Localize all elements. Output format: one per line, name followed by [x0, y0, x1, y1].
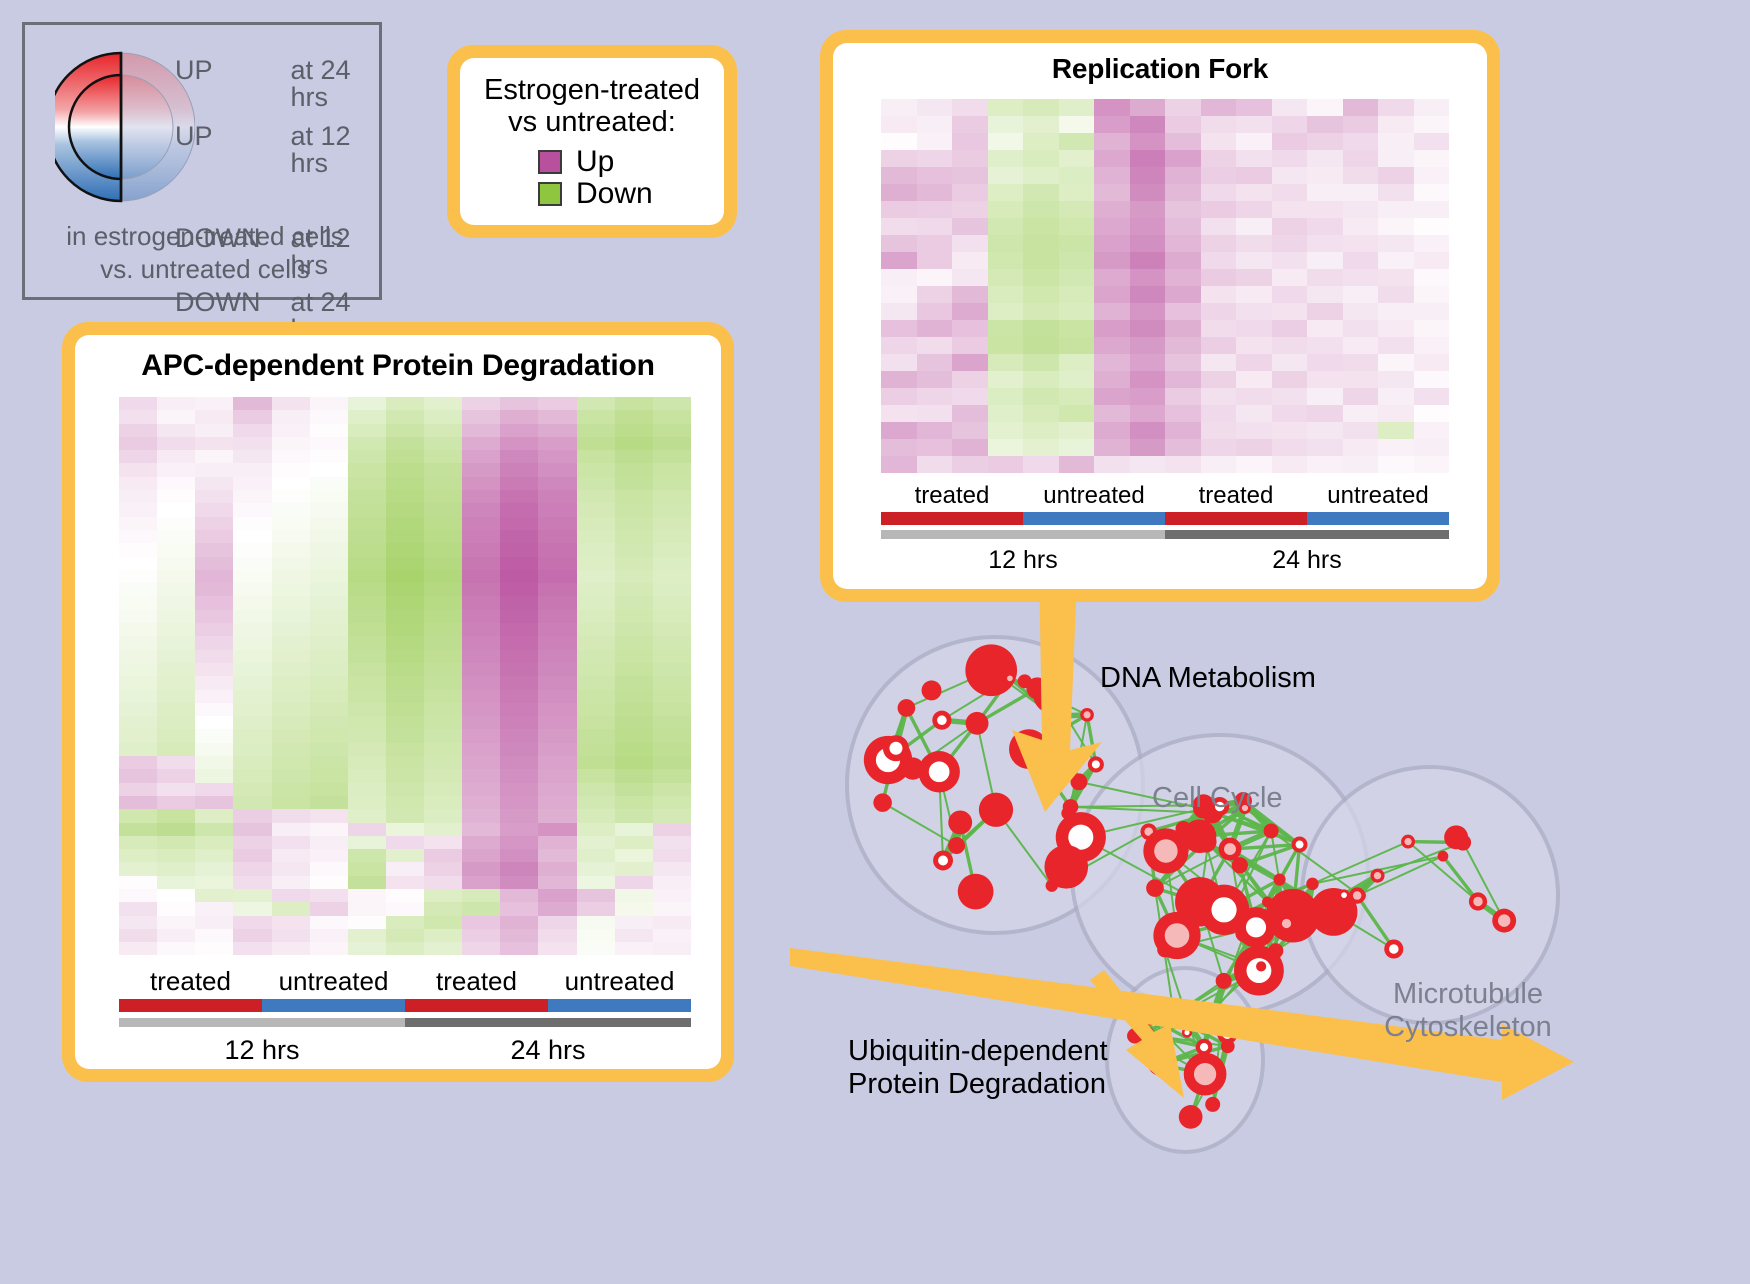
group-label: untreated [1023, 483, 1165, 509]
key-caption: in estrogen-treated cells vs. untreated … [25, 220, 385, 287]
treatment-bar-replication-fork [881, 512, 1449, 525]
treatment-bar-apc [119, 999, 691, 1012]
key-labels: UP at 24 hrs UP at 12 hrs DOWN at 12 hrs… [175, 57, 395, 343]
legend-label-down: Down [576, 179, 653, 209]
key-caption-line1: in estrogen-treated cells [25, 220, 385, 253]
key-time-label: at 24 hrs [290, 57, 395, 111]
expression-key-box: UP at 24 hrs UP at 12 hrs DOWN at 12 hrs… [22, 22, 382, 300]
group-label: treated [405, 967, 548, 996]
group-label: treated [1165, 483, 1307, 509]
cluster-label-microtubule-cytoskeleton: Microtubule Cytoskeleton [1383, 978, 1553, 1045]
cluster-label-ubiquitin-degradation: Ubiquitin-dependent Protein Degradation [848, 1035, 1108, 1102]
legend-title-line2: vs untreated: [460, 106, 724, 138]
heatmap-apc [119, 397, 691, 955]
group-label: treated [119, 967, 262, 996]
time-label: 12 hrs [881, 545, 1165, 575]
key-state-label: DOWN [175, 289, 290, 316]
microtubule-line1: Microtubule [1383, 978, 1553, 1011]
time-label: 24 hrs [1165, 545, 1449, 575]
panel-title-apc: APC-dependent Protein Degradation [75, 335, 721, 383]
time-bar-apc [119, 1018, 691, 1027]
ubiquitin-line1: Ubiquitin-dependent [848, 1035, 1108, 1068]
legend-title: Estrogen-treated vs untreated: [460, 74, 724, 139]
heatmap-replication-fork [881, 99, 1449, 473]
replication-fork-panel: Replication Fork treated untreated treat… [820, 30, 1500, 602]
time-bar-replication-fork [881, 530, 1449, 539]
time-labels-apc: 12 hrs 24 hrs [119, 1034, 691, 1066]
panel-title-replication-fork: Replication Fork [833, 43, 1487, 85]
cluster-label-cell-cycle: Cell Cycle [1152, 782, 1283, 815]
key-row: UP at 24 hrs [175, 57, 395, 111]
down-color-swatch [538, 182, 562, 206]
key-caption-line2: vs. untreated cells [25, 253, 385, 286]
legend-label-up: Up [576, 147, 614, 177]
cluster-label-dna-metabolism: DNA Metabolism [1100, 662, 1316, 695]
group-labels-apc: treated untreated treated untreated [119, 967, 691, 996]
group-labels-replication-fork: treated untreated treated untreated [881, 483, 1449, 509]
microtubule-line2: Cytoskeleton [1383, 1011, 1553, 1044]
ubiquitin-line2: Protein Degradation [848, 1068, 1108, 1101]
time-labels-replication-fork: 12 hrs 24 hrs [881, 545, 1449, 575]
key-state-label: UP [175, 123, 290, 150]
time-label: 12 hrs [119, 1034, 405, 1066]
legend-item-down: Down [538, 179, 724, 209]
legend-item-up: Up [538, 147, 724, 177]
group-label: treated [881, 483, 1023, 509]
up-color-swatch [538, 150, 562, 174]
pathway-network-diagram: DNA Metabolism Cell Cycle Microtubule Cy… [790, 600, 1750, 1279]
legend-title-line1: Estrogen-treated [460, 74, 724, 106]
legend-items: Up Down [460, 147, 724, 209]
key-ring-diagram [55, 49, 195, 207]
key-time-label: at 12 hrs [290, 123, 395, 177]
estrogen-legend-panel: Estrogen-treated vs untreated: Up Down [447, 45, 737, 238]
group-label: untreated [262, 967, 405, 996]
network-svg [790, 600, 1750, 1279]
group-label: untreated [548, 967, 691, 996]
time-label: 24 hrs [405, 1034, 691, 1066]
group-label: untreated [1307, 483, 1449, 509]
key-state-label: UP [175, 57, 290, 84]
apc-degradation-panel: APC-dependent Protein Degradation treate… [62, 322, 734, 1082]
key-row: UP at 12 hrs [175, 123, 395, 177]
